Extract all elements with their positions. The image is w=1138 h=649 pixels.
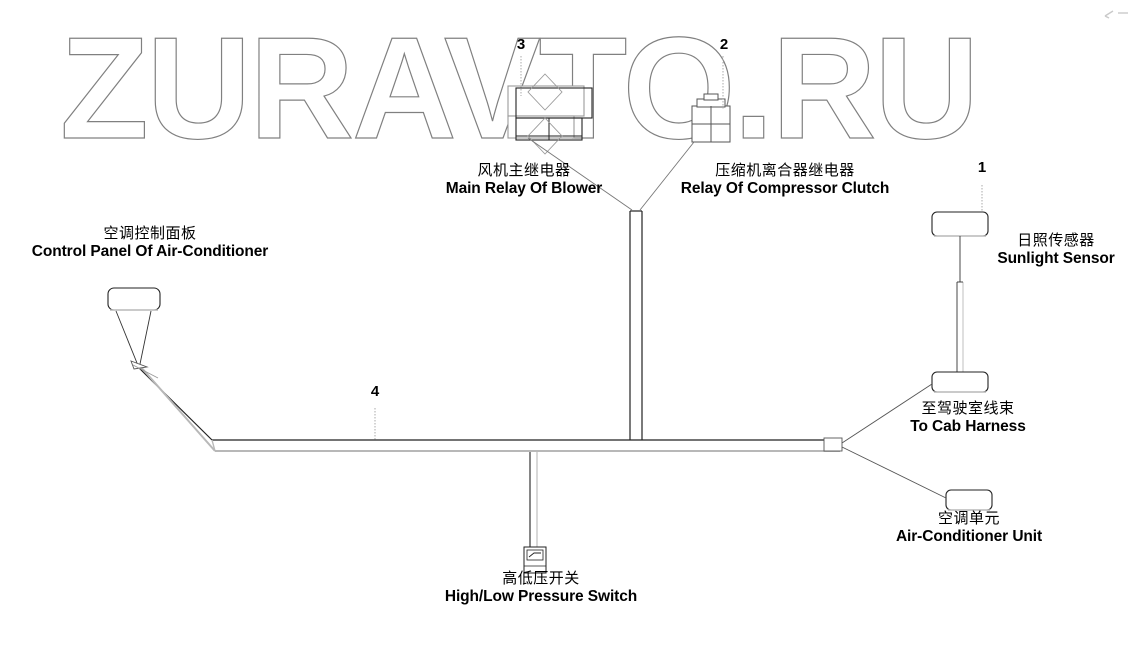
label-cn: 空调单元 <box>896 510 1042 528</box>
label-sunlight-sensor: 日照传感器 Sunlight Sensor <box>997 232 1114 268</box>
label-cn: 风机主继电器 <box>446 162 602 180</box>
label-cn: 日照传感器 <box>997 232 1114 250</box>
callout-number-1: 1 <box>978 159 986 176</box>
label-control-panel-of-air-conditioner: 空调控制面板 Control Panel Of Air-Conditioner <box>32 225 268 261</box>
callout-leader-lines <box>375 56 982 441</box>
label-en: Air-Conditioner Unit <box>896 528 1042 546</box>
air-conditioner-unit-connector <box>842 447 992 510</box>
label-to-cab-harness: 至驾驶室线束 To Cab Harness <box>910 400 1025 436</box>
sunlight-sensor-symbol <box>932 212 988 372</box>
callout-number-3: 3 <box>517 36 525 53</box>
diagram-linework <box>0 0 1138 649</box>
harness-right-terminal <box>824 438 842 451</box>
label-cn: 空调控制面板 <box>32 225 268 243</box>
label-en: Sunlight Sensor <box>997 250 1114 268</box>
label-en: To Cab Harness <box>910 418 1025 436</box>
label-cn: 高低压开关 <box>445 570 637 588</box>
label-relay-of-compressor-clutch: 压缩机离合器继电器 Relay Of Compressor Clutch <box>681 162 889 198</box>
callout-number-4: 4 <box>371 383 379 400</box>
label-en: Main Relay Of Blower <box>446 180 602 198</box>
label-main-relay-of-blower: 风机主继电器 Main Relay Of Blower <box>446 162 602 198</box>
label-high-low-pressure-switch: 高低压开关 High/Low Pressure Switch <box>445 570 637 606</box>
label-air-conditioner-unit: 空调单元 Air-Conditioner Unit <box>896 510 1042 546</box>
relay-of-compressor-clutch-symbol <box>692 94 730 142</box>
main-harness-trunk-shadow <box>140 366 840 451</box>
corner-mark <box>1105 11 1128 18</box>
label-en: High/Low Pressure Switch <box>445 588 637 606</box>
label-en: Control Panel Of Air-Conditioner <box>32 243 268 261</box>
label-en: Relay Of Compressor Clutch <box>681 180 889 198</box>
main-harness-trunk <box>134 211 840 547</box>
label-cn: 至驾驶室线束 <box>910 400 1025 418</box>
callout-number-2: 2 <box>720 36 728 53</box>
control-panel-connector <box>108 288 160 378</box>
wiring-diagram-canvas: ZURAVTO.RU <box>0 0 1138 649</box>
label-cn: 压缩机离合器继电器 <box>681 162 889 180</box>
